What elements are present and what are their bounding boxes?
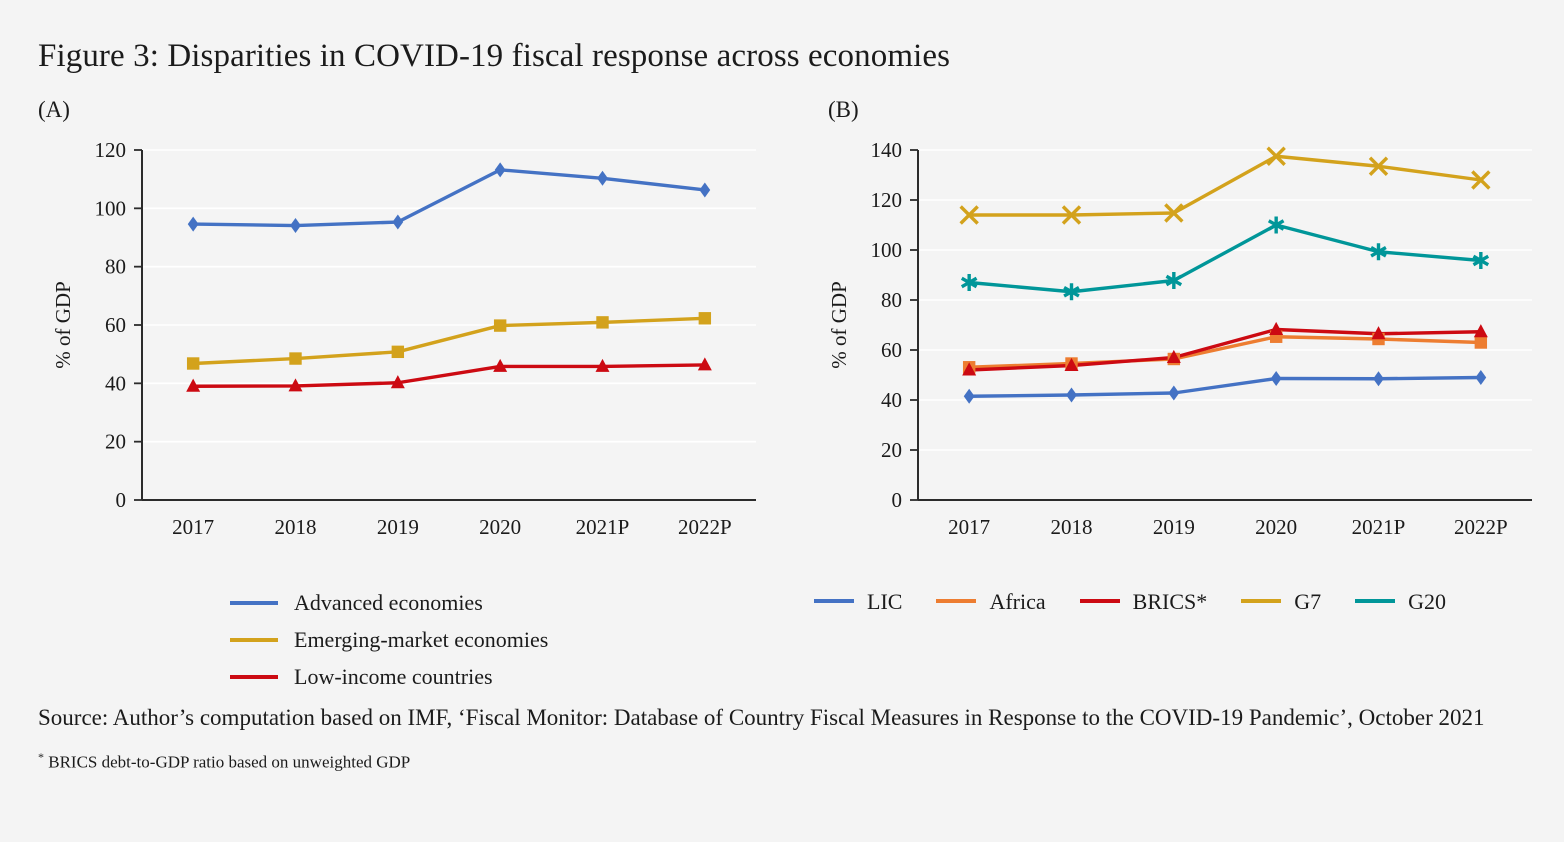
data-point-diamond (188, 217, 199, 232)
legend-b-item[interactable]: LIC (814, 584, 902, 618)
legend-color-swatch (1241, 599, 1281, 603)
data-point-square (392, 346, 404, 358)
legend-label: Advanced economies (294, 584, 483, 621)
data-point-diamond (495, 162, 506, 177)
y-tick-label: 60 (881, 338, 902, 362)
legend-b-item[interactable]: BRICS* (1080, 584, 1208, 618)
data-point-square (187, 357, 199, 369)
figure-root: Figure 3: Disparities in COVID-19 fiscal… (0, 0, 1564, 842)
x-tick-label: 2020 (479, 515, 521, 539)
x-tick-label: 2020 (1255, 515, 1297, 539)
source-block: Source: Author’s computation based on IM… (38, 702, 1518, 774)
data-point-diamond (964, 389, 975, 404)
y-tick-label: 20 (881, 438, 902, 462)
legend-a-item[interactable]: Advanced economies (230, 584, 548, 621)
figure-title: Figure 3: Disparities in COVID-19 fiscal… (38, 36, 950, 76)
y-tick-label: 100 (871, 238, 903, 262)
panel-a-label: (A) (38, 97, 70, 123)
source-text: Source: Author’s computation based on IM… (38, 702, 1518, 733)
x-tick-label: 2017 (172, 515, 214, 539)
footnote-label: BRICS debt-to-GDP ratio based on unweigh… (44, 753, 410, 772)
footnote-text: * BRICS debt-to-GDP ratio based on unwei… (38, 746, 1518, 774)
legend-b-item[interactable]: G7 (1241, 584, 1321, 618)
series-line (969, 225, 1481, 292)
legend-label: Emerging-market economies (294, 621, 548, 658)
series-line (193, 170, 705, 226)
chart-svg-b: 02040608010012014020172018201920202021P2… (800, 132, 1560, 572)
y-tick-label: 140 (871, 138, 903, 162)
legend-panel-b: LICAfricaBRICS*G7G20 (814, 584, 1446, 618)
legend-color-swatch (230, 675, 278, 679)
x-tick-label: 2017 (948, 515, 990, 539)
y-tick-label: 0 (892, 488, 903, 512)
y-tick-label: 40 (881, 388, 902, 412)
y-axis-title: % of GDP (827, 281, 851, 369)
x-tick-label: 2022P (678, 515, 732, 539)
y-tick-label: 120 (95, 138, 127, 162)
legend-color-swatch (230, 638, 278, 642)
legend-label: BRICS* (1133, 583, 1208, 620)
data-point-diamond (1475, 370, 1486, 385)
legend-color-swatch (936, 599, 976, 603)
y-tick-label: 40 (105, 371, 126, 395)
data-point-square (1475, 336, 1487, 348)
data-point-diamond (699, 182, 710, 197)
y-tick-label: 60 (105, 313, 126, 337)
data-point-square (699, 312, 711, 324)
data-point-diamond (1271, 371, 1282, 386)
series-line (969, 378, 1481, 397)
data-point-diamond (1168, 386, 1179, 401)
data-point-square (289, 352, 301, 364)
y-tick-label: 80 (881, 288, 902, 312)
panel-b-label: (B) (828, 97, 859, 123)
legend-label: G7 (1294, 583, 1321, 620)
legend-b-item[interactable]: Africa (936, 584, 1045, 618)
y-tick-label: 120 (871, 188, 903, 212)
legend-color-swatch (1080, 599, 1120, 603)
data-point-diamond (597, 171, 608, 186)
x-tick-label: 2019 (1153, 515, 1195, 539)
x-tick-label: 2018 (1051, 515, 1093, 539)
y-tick-label: 80 (105, 255, 126, 279)
y-tick-label: 0 (116, 488, 127, 512)
x-tick-label: 2022P (1454, 515, 1508, 539)
legend-panel-a: Advanced economiesEmerging-market econom… (230, 584, 548, 695)
series-line (969, 156, 1481, 215)
legend-color-swatch (1355, 599, 1395, 603)
y-tick-label: 100 (95, 196, 127, 220)
legend-label: G20 (1408, 583, 1446, 620)
chart-svg-a: 02040608010012020172018201920202021P2022… (24, 132, 784, 572)
legend-a-item[interactable]: Emerging-market economies (230, 621, 548, 658)
legend-color-swatch (230, 601, 278, 605)
y-axis-title: % of GDP (51, 281, 75, 369)
data-point-square (494, 319, 506, 331)
legend-b-item[interactable]: G20 (1355, 584, 1446, 618)
data-point-diamond (290, 218, 301, 233)
legend-label: Africa (989, 583, 1045, 620)
series-line (969, 337, 1481, 368)
data-point-diamond (392, 215, 403, 230)
x-tick-label: 2021P (576, 515, 630, 539)
legend-a-item[interactable]: Low-income countries (230, 658, 548, 695)
y-tick-label: 20 (105, 430, 126, 454)
data-point-square (596, 316, 608, 328)
x-tick-label: 2021P (1352, 515, 1406, 539)
data-point-diamond (1373, 371, 1384, 386)
legend-color-swatch (814, 599, 854, 603)
x-tick-label: 2018 (275, 515, 317, 539)
legend-label: LIC (867, 583, 902, 620)
legend-label: Low-income countries (294, 658, 493, 695)
x-tick-label: 2019 (377, 515, 419, 539)
